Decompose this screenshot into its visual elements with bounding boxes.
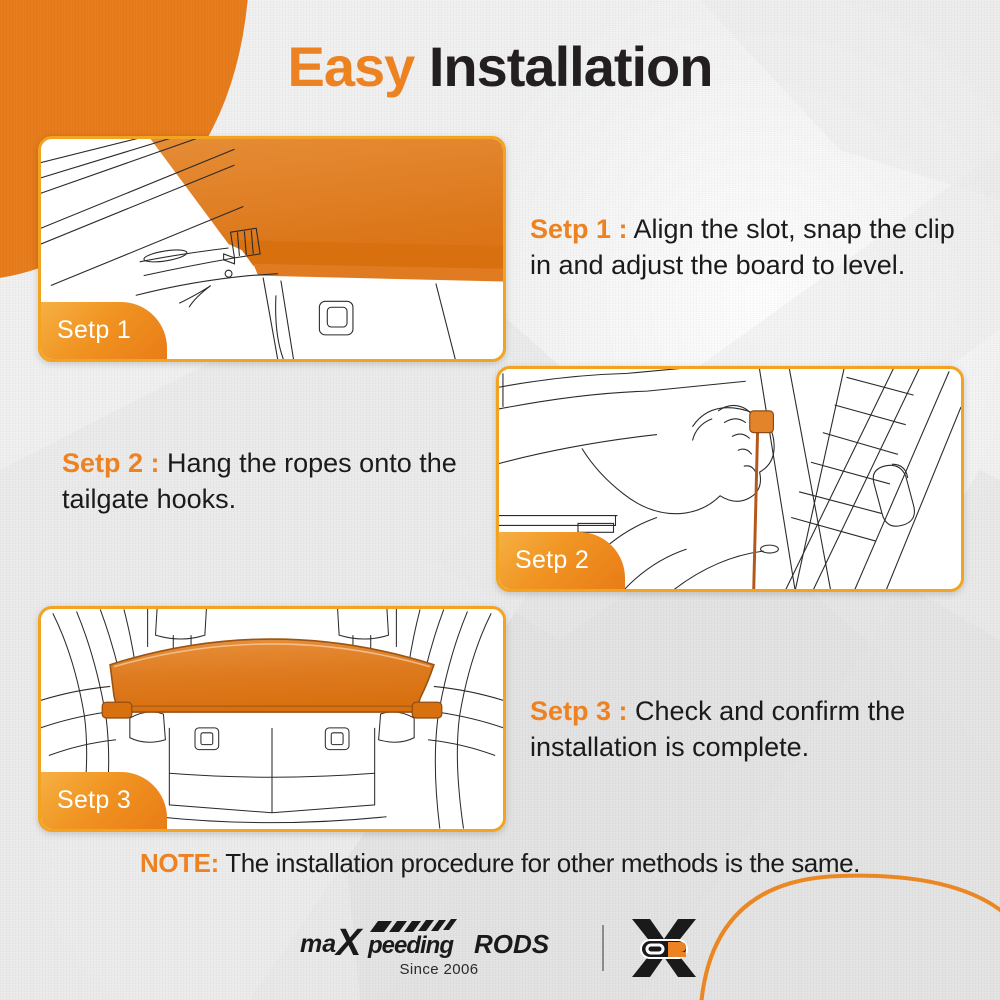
footer-logos: ma X peeding RODS Since 2006 OR bbox=[0, 912, 1000, 984]
brand-since-label: Since 2006 bbox=[399, 961, 478, 978]
step-description-2: Setp 2 : Hang the ropes onto the tailgat… bbox=[62, 446, 482, 518]
note-line: NOTE: The installation procedure for oth… bbox=[0, 848, 1000, 879]
step-image-panel-3: Setp 3 bbox=[38, 606, 506, 832]
footer-divider bbox=[602, 925, 604, 971]
step-image-panel-2: Setp 2 bbox=[496, 366, 964, 592]
maxpeedingrods-logo: ma X peeding RODS Since 2006 bbox=[300, 919, 578, 978]
step-label-1: Setp 1 : bbox=[530, 214, 628, 244]
note-label: NOTE: bbox=[140, 848, 219, 878]
step-badge-3: Setp 3 bbox=[41, 772, 167, 829]
title-highlight: Easy bbox=[288, 35, 415, 98]
brand-part1: ma bbox=[300, 930, 336, 958]
step-label-3: Setp 3 : bbox=[530, 696, 628, 726]
oxr-badge-logo: OR bbox=[628, 917, 700, 979]
page-title: Easy Installation bbox=[0, 34, 1000, 99]
maxpeedingrods-wordmark: ma X peeding RODS bbox=[300, 919, 578, 959]
step-description-1: Setp 1 : Align the slot, snap the clip i… bbox=[530, 212, 966, 284]
step-badge-2: Setp 2 bbox=[499, 532, 625, 589]
brand-x: X bbox=[334, 922, 364, 959]
brand-part3: RODS bbox=[474, 929, 550, 959]
note-body: The installation procedure for other met… bbox=[225, 848, 860, 878]
step-description-3: Setp 3 : Check and confirm the installat… bbox=[530, 694, 960, 766]
brand-part2: peeding bbox=[367, 932, 454, 959]
step-badge-1: Setp 1 bbox=[41, 302, 167, 359]
step-label-2: Setp 2 : bbox=[62, 448, 160, 478]
step-image-panel-1: Setp 1 bbox=[38, 136, 506, 362]
title-rest: Installation bbox=[429, 35, 713, 98]
